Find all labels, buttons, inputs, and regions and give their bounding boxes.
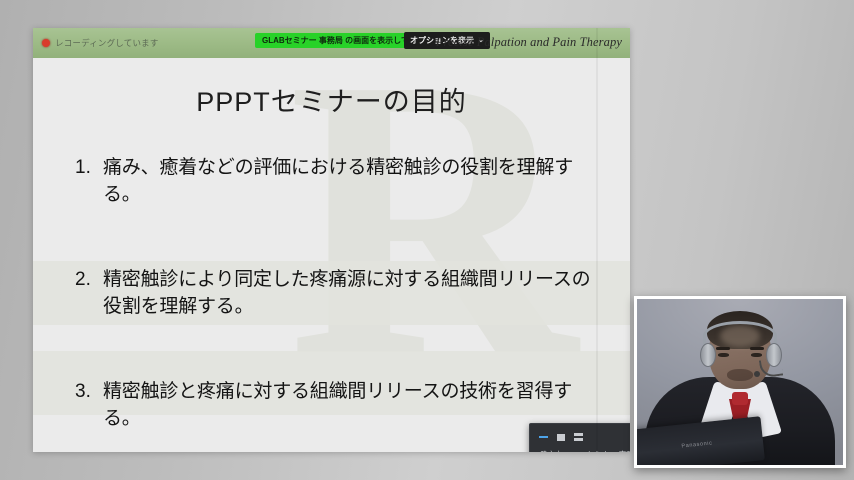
brand-wordmark: Precise Palpation and Pain Therapy (436, 32, 622, 52)
recording-dot-icon (42, 39, 50, 47)
list-item: 3. 精密触診と疼痛に対する組織間リリースの技術を習得する。 (75, 379, 595, 433)
eye-right (751, 353, 762, 357)
recording-label: レコーディングしています (55, 37, 159, 49)
recording-indicator: レコーディングしています (42, 37, 159, 49)
restore-window-icon[interactable] (557, 434, 565, 441)
laptop-brand-label: Panasonic (681, 440, 713, 449)
minimize-icon[interactable] (539, 436, 548, 438)
headset-mic-tip-icon (754, 371, 760, 377)
list-item: 1. 痛み、癒着などの評価における精密触診の役割を理解する。 (75, 155, 595, 209)
list-item-text: 精密触診と疼痛に対する組織間リリースの技術を習得する。 (103, 379, 595, 433)
list-item-number: 2. (75, 267, 103, 294)
list-item-text: 精密触診により同定した疼痛源に対する組織間リリースの役割を理解する。 (103, 267, 595, 321)
mouth-and-beard (727, 369, 753, 381)
view-layout-icon[interactable] (574, 433, 583, 441)
list-item: 2. 精密触診により同定した疼痛源に対する組織間リリースの役割を理解する。 (75, 267, 595, 321)
shared-screen-window: レコーディングしています GLABセミナー 事務局 の画面を表示しています オプ… (33, 28, 630, 452)
active-speaker-status: 発言中: GLABセミナー 事務 (530, 449, 630, 452)
presentation-slide: R PPPTセミナーの目的 1. 痛み、癒着などの評価における精密触診の役割を理… (33, 58, 630, 452)
headset-earcup-left-icon (700, 343, 716, 367)
eye-left (718, 353, 729, 357)
necktie-knot (732, 392, 748, 405)
slide-title: PPPTセミナーの目的 (33, 80, 630, 119)
screen-share-banner: レコーディングしています GLABセミナー 事務局 の画面を表示しています オプ… (33, 28, 630, 58)
window-edge-divider (596, 28, 598, 452)
meeting-mini-bar-controls (530, 424, 630, 444)
meeting-mini-bar[interactable]: 発言中: GLABセミナー 事務 (529, 423, 630, 452)
list-item-text: 痛み、癒着などの評価における精密触診の役割を理解する。 (103, 155, 595, 209)
list-item-number: 1. (75, 155, 103, 182)
list-item-number: 3. (75, 379, 103, 406)
webcam-video-frame: Panasonic (637, 299, 843, 465)
webcam-video-tile[interactable]: Panasonic (634, 296, 846, 468)
slide-objective-list: 1. 痛み、癒着などの評価における精密触診の役割を理解する。 2. 精密触診によ… (75, 155, 595, 452)
screen-share-desktop: レコーディングしています GLABセミナー 事務局 の画面を表示しています オプ… (0, 0, 854, 480)
